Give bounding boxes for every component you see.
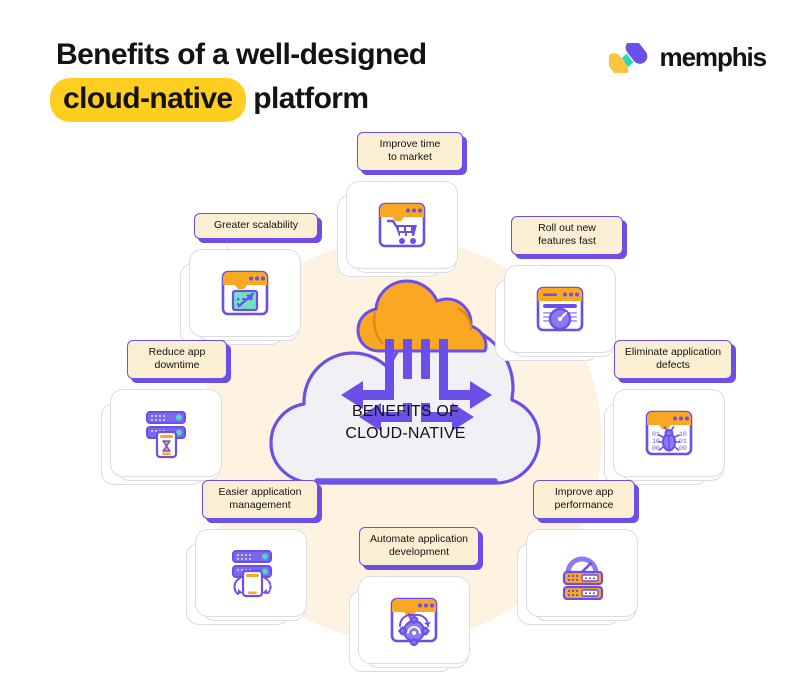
page-title: Benefits of a well-designed cloud-native… (56, 36, 526, 122)
resize-arrow-browser-icon (219, 267, 271, 319)
speedometer-browser-icon (534, 283, 586, 335)
card-front[interactable] (346, 181, 458, 269)
benefit-card-stack[interactable] (337, 181, 465, 277)
benefit-node-automate-development[interactable]: Automate application development (349, 527, 495, 672)
gear-refresh-browser-icon (388, 594, 440, 646)
benefit-label-roll-out-features[interactable]: Roll out new features fast (511, 216, 623, 255)
svg-text:10: 10 (679, 431, 687, 438)
card-front[interactable] (195, 529, 307, 617)
central-cloud-label: BENEFITS OF CLOUD-NATIVE (263, 401, 548, 445)
card-front[interactable]: 011000 100100 (613, 389, 725, 477)
benefit-label-line-1: Reduce app (134, 346, 220, 359)
benefit-label-easier-management[interactable]: Easier application management (202, 480, 318, 519)
benefit-label-line-1: Automate application (366, 533, 472, 546)
benefit-label-line-2: downtime (134, 359, 220, 372)
benefit-label-line-2: development (366, 546, 472, 559)
benefit-card-stack[interactable] (495, 265, 623, 361)
bug-binary-browser-icon: 011000 100100 (643, 407, 695, 459)
benefit-label-greater-scalability[interactable]: Greater scalability (194, 213, 318, 239)
benefit-card-stack[interactable]: 011000 100100 (604, 389, 732, 485)
benefit-card-stack[interactable] (101, 389, 229, 485)
benefit-label-line-1: Greater scalability (201, 219, 311, 232)
benefit-label-line-1: Roll out new (518, 222, 616, 235)
benefit-node-greater-scalability[interactable]: Greater scalability (180, 213, 326, 345)
benefit-label-line-2: management (209, 499, 311, 512)
benefit-node-improve-performance[interactable]: Improve app performance (517, 480, 663, 625)
title-highlight-cloud-native: cloud-native (50, 78, 246, 122)
central-cloud-label-line-1: BENEFITS OF (263, 401, 548, 423)
central-cloud-label-line-2: CLOUD-NATIVE (263, 423, 548, 445)
memphis-logo-wordmark: memphis (660, 42, 766, 73)
benefit-node-eliminate-defects[interactable]: Eliminate application defects 011000 100… (604, 340, 750, 485)
benefit-node-improve-time-to-market[interactable]: Improve time to market (337, 132, 483, 277)
benefit-label-line-2: performance (540, 499, 628, 512)
benefit-card-stack[interactable] (186, 529, 314, 625)
benefit-label-line-2: defects (621, 359, 725, 372)
card-front[interactable] (526, 529, 638, 617)
benefit-card-stack[interactable] (180, 249, 308, 345)
benefit-label-improve-time-to-market[interactable]: Improve time to market (357, 132, 463, 171)
benefit-label-line-1: Eliminate application (621, 346, 725, 359)
title-line-2: cloud-native platform (56, 78, 526, 122)
card-front[interactable] (358, 576, 470, 664)
shopping-cart-browser-icon (376, 199, 428, 251)
title-line-2-word: platform (253, 82, 368, 115)
server-gauge-icon (555, 546, 609, 600)
card-front[interactable] (110, 389, 222, 477)
benefit-label-improve-performance[interactable]: Improve app performance (533, 480, 635, 519)
benefit-label-automate-development[interactable]: Automate application development (359, 527, 479, 566)
svg-text:00: 00 (652, 445, 660, 452)
benefit-card-stack[interactable] (517, 529, 645, 625)
page-header: Benefits of a well-designed cloud-native… (0, 0, 800, 125)
infographic-stage: BENEFITS OF CLOUD-NATIVE Improve time to… (0, 118, 800, 683)
benefit-label-line-1: Easier application (209, 486, 311, 499)
benefit-card-stack[interactable] (349, 576, 477, 672)
memphis-logo-mark-icon (609, 43, 651, 73)
benefit-label-line-1: Improve time (364, 138, 456, 151)
benefit-node-easier-management[interactable]: Easier application management (186, 480, 332, 625)
svg-text:01: 01 (679, 438, 687, 445)
server-phone-sync-icon (223, 546, 279, 600)
benefit-label-eliminate-defects[interactable]: Eliminate application defects (614, 340, 732, 379)
svg-text:00: 00 (679, 445, 687, 452)
memphis-logo[interactable]: memphis (609, 42, 766, 73)
benefit-label-line-2: features fast (518, 235, 616, 248)
benefit-label-reduce-downtime[interactable]: Reduce app downtime (127, 340, 227, 379)
benefit-label-line-1: Improve app (540, 486, 628, 499)
benefit-label-line-2: to market (364, 151, 456, 164)
card-front[interactable] (504, 265, 616, 353)
server-hourglass-phone-icon (139, 406, 193, 460)
title-line-1: Benefits of a well-designed (56, 36, 526, 74)
benefit-node-reduce-downtime[interactable]: Reduce app downtime (101, 340, 247, 485)
card-front[interactable] (189, 249, 301, 337)
